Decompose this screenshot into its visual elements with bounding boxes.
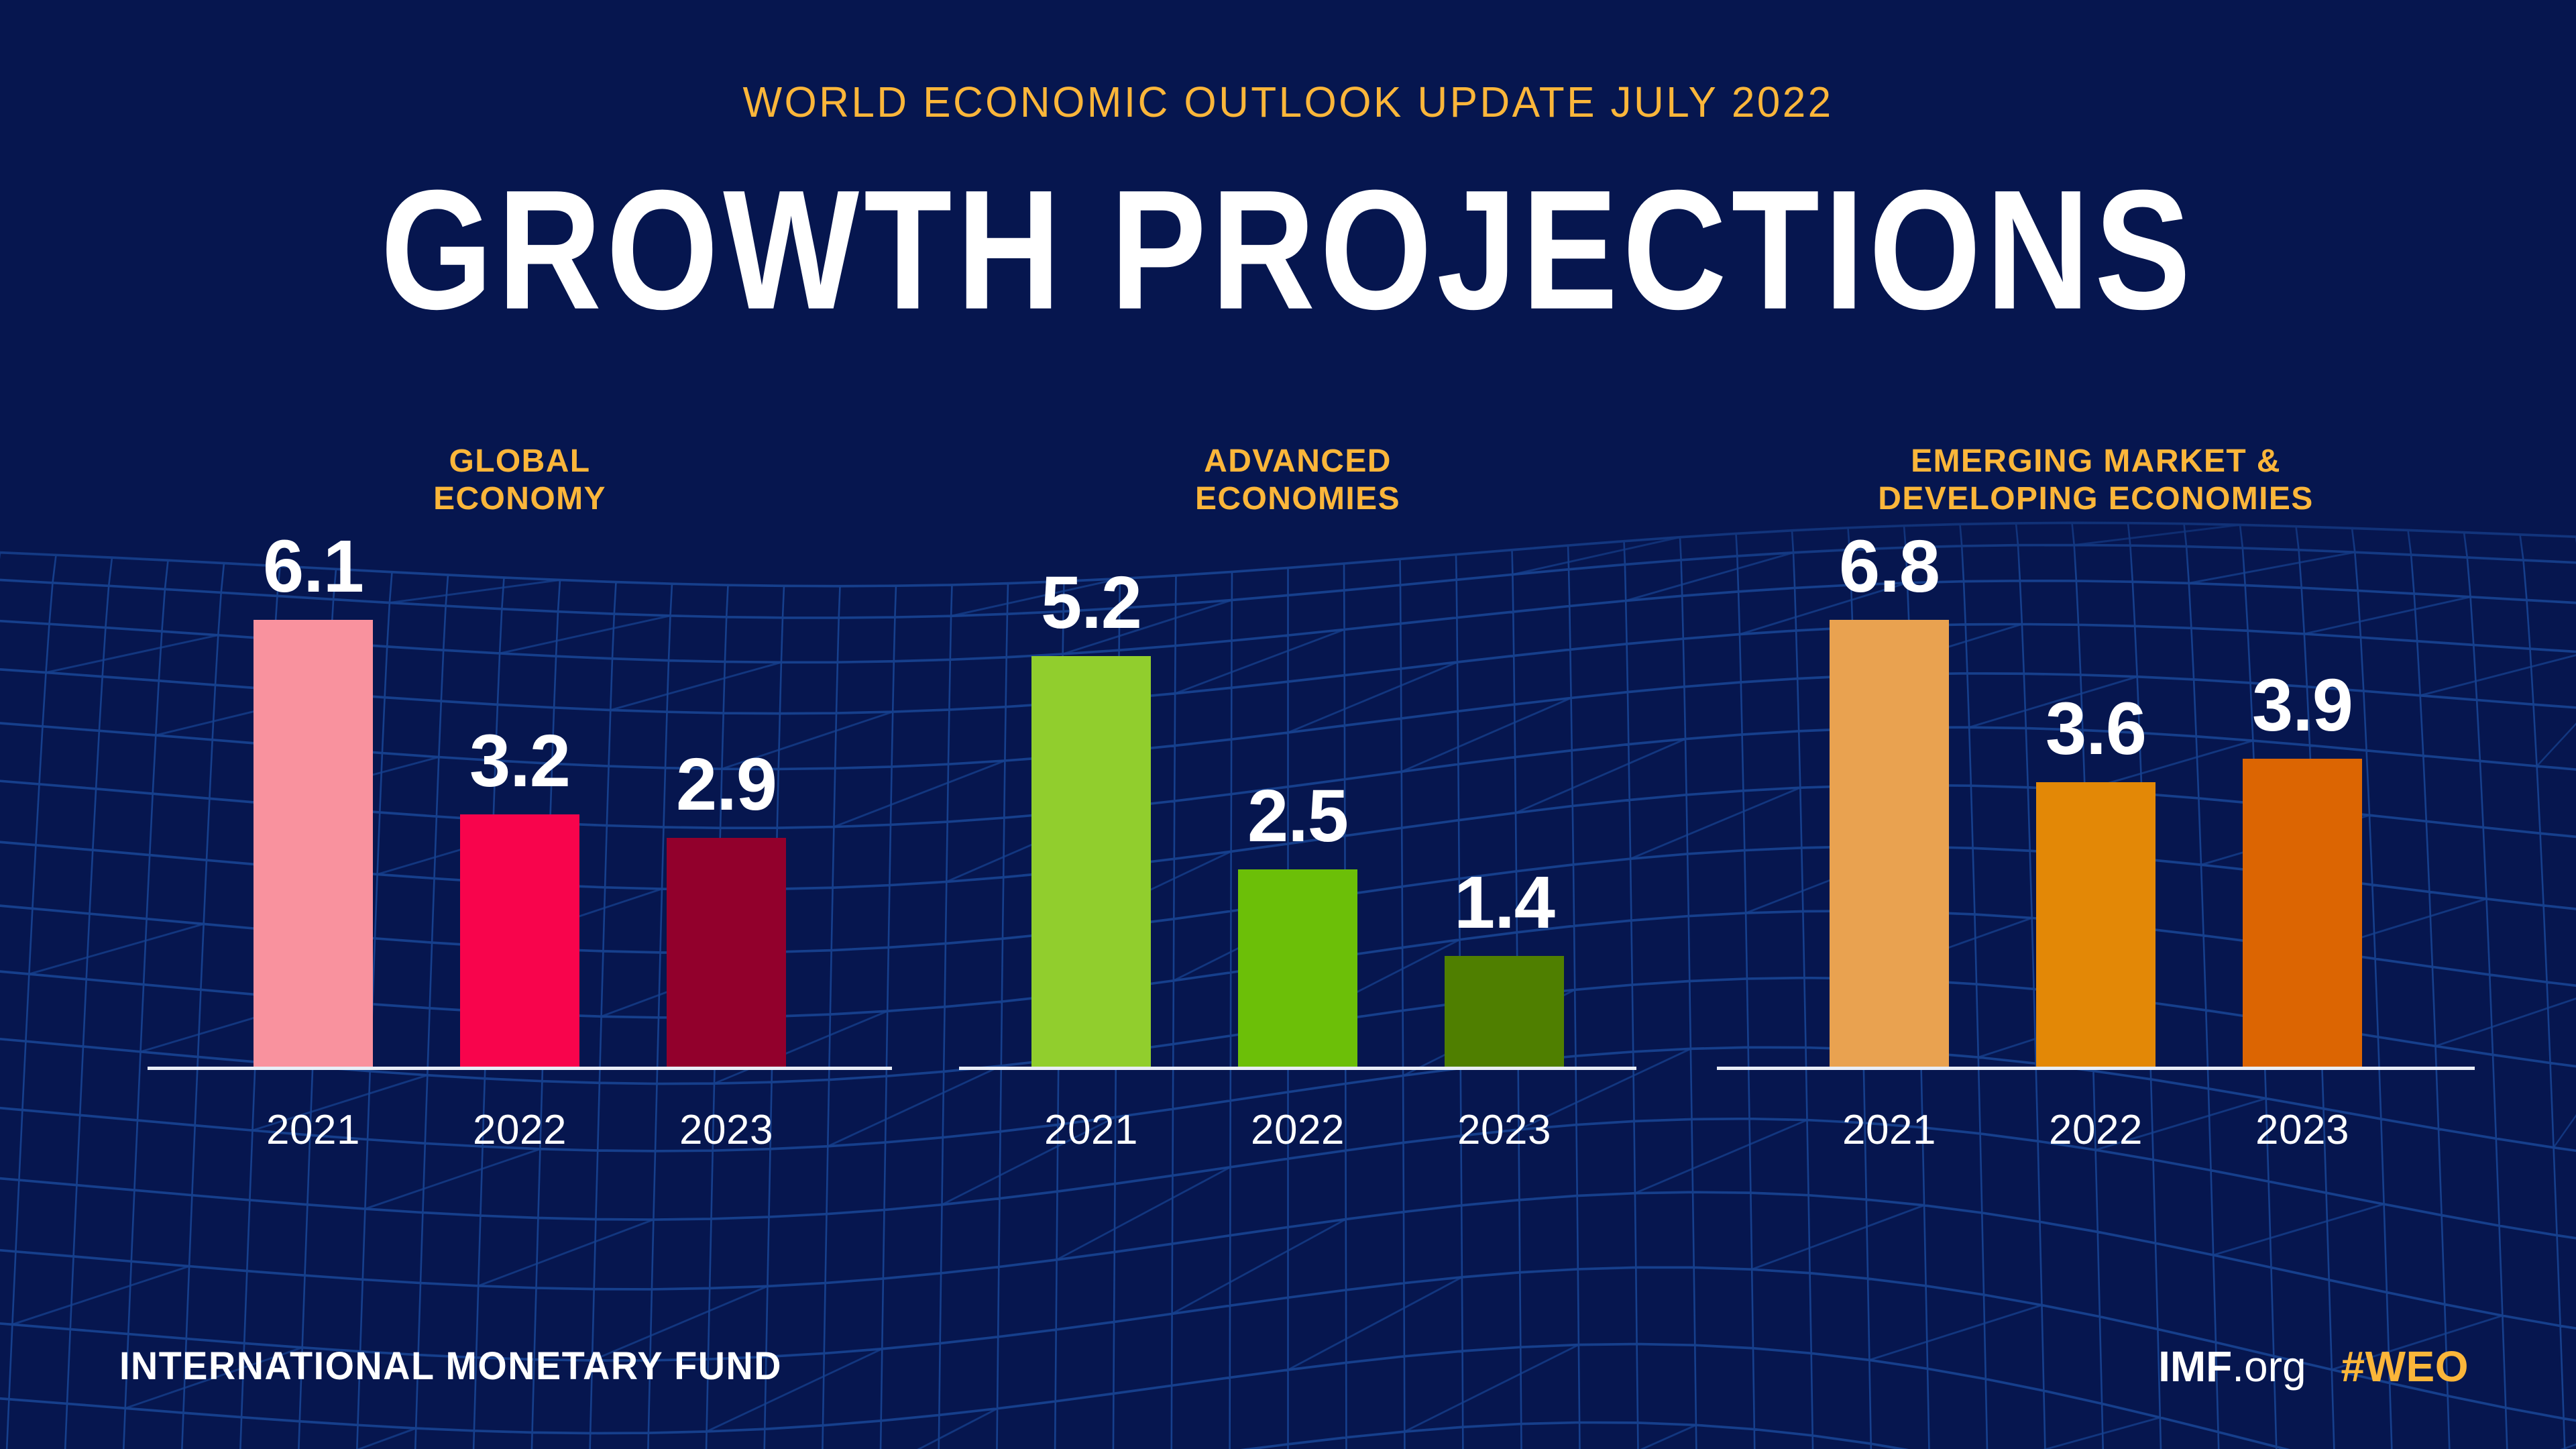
panel-title: GLOBAL ECONOMY <box>148 443 892 518</box>
x-axis-line <box>1717 1067 2475 1070</box>
bar-value-label: 2.9 <box>676 748 777 822</box>
bar-rect[interactable] <box>1238 869 1357 1067</box>
chart-panel-1: GLOBAL ECONOMY6.13.22.9202120222023 <box>148 443 892 1234</box>
bar-value-label: 6.1 <box>263 530 363 604</box>
bar-value-label: 6.8 <box>1839 530 1940 604</box>
bar-item[interactable]: 3.6 <box>2036 530 2155 1067</box>
x-tick-label: 2021 <box>254 1106 373 1154</box>
plot-area: 6.83.63.9202120222023 <box>1717 530 2475 1107</box>
x-tick-label: 2023 <box>2243 1106 2362 1154</box>
bar-value-label: 3.9 <box>2252 669 2353 743</box>
bar-item[interactable]: 6.8 <box>1830 530 1949 1067</box>
bar-group: 6.13.22.9 <box>148 530 892 1067</box>
page-title: GROWTH PROJECTIONS <box>0 164 2576 335</box>
bar-group: 6.83.63.9 <box>1717 530 2475 1067</box>
bar-value-label: 1.4 <box>1454 866 1555 940</box>
bar-group: 5.22.51.4 <box>959 530 1636 1067</box>
bar-rect[interactable] <box>667 838 786 1067</box>
imf-org-light: .org <box>2232 1342 2306 1391</box>
bar-rect[interactable] <box>2036 782 2155 1067</box>
bar-value-label: 3.6 <box>2046 692 2146 766</box>
chart-panel-3: EMERGING MARKET & DEVELOPING ECONOMIES6.… <box>1717 443 2475 1234</box>
x-tick-label: 2023 <box>667 1106 786 1154</box>
bar-value-label: 2.5 <box>1247 780 1348 853</box>
x-tick-label: 2023 <box>1445 1106 1564 1154</box>
weo-hashtag[interactable]: #WEO <box>2341 1342 2469 1391</box>
bar-item[interactable]: 3.2 <box>460 530 579 1067</box>
x-tick-label: 2022 <box>2036 1106 2155 1154</box>
organization-name: INTERNATIONAL MONETARY FUND <box>119 1344 782 1389</box>
bar-rect[interactable] <box>1830 620 1949 1067</box>
bar-value-label: 3.2 <box>469 724 570 798</box>
infographic-root: WORLD ECONOMIC OUTLOOK UPDATE JULY 2022 … <box>0 0 2576 1449</box>
imf-org-bold: IMF <box>2158 1342 2232 1391</box>
bar-item[interactable]: 1.4 <box>1445 530 1564 1067</box>
x-tick-label: 2021 <box>1830 1106 1949 1154</box>
bar-rect[interactable] <box>460 814 579 1067</box>
footer: INTERNATIONAL MONETARY FUND IMF.org #WEO <box>0 1281 2576 1449</box>
plot-area: 5.22.51.4202120222023 <box>959 530 1636 1107</box>
kicker-text: WORLD ECONOMIC OUTLOOK UPDATE JULY 2022 <box>39 77 2538 127</box>
bar-rect[interactable] <box>1031 656 1151 1067</box>
chart-panel-2: ADVANCED ECONOMIES5.22.51.4202120222023 <box>959 443 1636 1234</box>
x-axis-line <box>148 1067 892 1070</box>
header: WORLD ECONOMIC OUTLOOK UPDATE JULY 2022 … <box>0 0 2576 429</box>
chart-panels: GLOBAL ECONOMY6.13.22.9202120222023ADVAN… <box>0 443 2576 1234</box>
bar-rect[interactable] <box>254 620 373 1067</box>
x-tick-label: 2022 <box>460 1106 579 1154</box>
bar-item[interactable]: 6.1 <box>254 530 373 1067</box>
bar-item[interactable]: 2.5 <box>1238 530 1357 1067</box>
imf-org-link[interactable]: IMF.org <box>2158 1342 2306 1391</box>
bar-item[interactable]: 2.9 <box>667 530 786 1067</box>
bar-item[interactable]: 5.2 <box>1031 530 1151 1067</box>
bar-rect[interactable] <box>2243 759 2362 1067</box>
x-axis-ticks: 202120222023 <box>959 1106 1636 1154</box>
plot-area: 6.13.22.9202120222023 <box>148 530 892 1107</box>
x-tick-label: 2022 <box>1238 1106 1357 1154</box>
panel-title: EMERGING MARKET & DEVELOPING ECONOMIES <box>1717 443 2475 518</box>
x-tick-label: 2021 <box>1031 1106 1151 1154</box>
panel-title: ADVANCED ECONOMIES <box>959 443 1636 518</box>
bar-value-label: 5.2 <box>1041 566 1141 640</box>
x-axis-ticks: 202120222023 <box>148 1106 892 1154</box>
bar-rect[interactable] <box>1445 956 1564 1067</box>
x-axis-ticks: 202120222023 <box>1717 1106 2475 1154</box>
x-axis-line <box>959 1067 1636 1070</box>
footer-links: IMF.org #WEO <box>2158 1342 2469 1391</box>
bar-item[interactable]: 3.9 <box>2243 530 2362 1067</box>
